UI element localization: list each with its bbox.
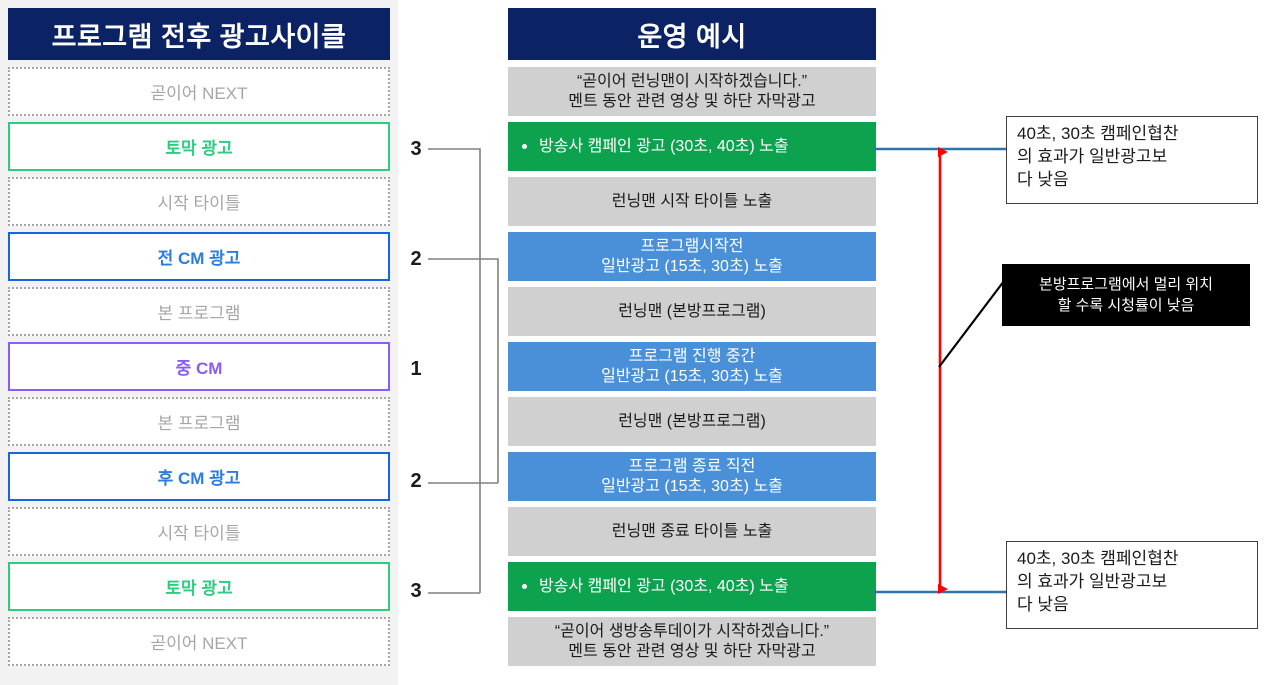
left-row-2: 시작 타이틀 — [8, 177, 390, 226]
left-row-0: 곧이어 NEXT — [8, 67, 390, 116]
callout-middle-text: 본방프로그램에서 멀리 위치 할 수록 시청률이 낮음 — [1039, 274, 1213, 316]
right-row-8: 런닝맨 종료 타이틀 노출 — [508, 507, 876, 556]
right-row-0: “곧이어 런닝맨이 시작하겠습니다.” 멘트 동안 관련 영상 및 하단 자막광… — [508, 67, 876, 116]
left-row-label: 본 프로그램 — [158, 409, 241, 434]
right-panel-header: 운영 예시 — [508, 8, 876, 60]
right-row-2: 런닝맨 시작 타이틀 노출 — [508, 177, 876, 226]
left-row-10: 곧이어 NEXT — [8, 617, 390, 666]
right-row-text: 방송사 캠페인 광고 (30초, 40초) 노출 — [539, 577, 789, 597]
priority-number-2-top: 2 — [404, 248, 428, 271]
right-row-5: 프로그램 진행 중간 일반광고 (15초, 30초) 노출 — [508, 342, 876, 391]
left-row-list: 곧이어 NEXT 토막 광고 시작 타이틀 전 CM 광고 본 프로그램 중 C… — [8, 67, 390, 672]
left-row-label: 시작 타이틀 — [158, 189, 241, 214]
bullet-icon — [522, 144, 527, 149]
right-row-list: “곧이어 런닝맨이 시작하겠습니다.” 멘트 동안 관련 영상 및 하단 자막광… — [508, 67, 876, 672]
priority-number-3-top: 3 — [404, 138, 428, 161]
right-row-9: 방송사 캠페인 광고 (30초, 40초) 노출 — [508, 562, 876, 611]
callout-bottom-text: 40초, 30초 캠페인협찬 의 효과가 일반광고보 다 낮음 — [1017, 549, 1178, 614]
left-row-6: 본 프로그램 — [8, 397, 390, 446]
right-row-7: 프로그램 종료 직전 일반광고 (15초, 30초) 노출 — [508, 452, 876, 501]
left-row-label: 전 CM 광고 — [158, 244, 241, 269]
right-row-text: 프로그램시작전 일반광고 (15초, 30초) 노출 — [601, 237, 783, 277]
left-row-3: 전 CM 광고 — [8, 232, 390, 281]
bullet-icon — [522, 584, 527, 589]
right-row-4: 런닝맨 (본방프로그램) — [508, 287, 876, 336]
black-callout-pointer — [939, 281, 1004, 367]
left-row-4: 본 프로그램 — [8, 287, 390, 336]
callout-top: 40초, 30초 캠페인협찬 의 효과가 일반광고보 다 낮음 — [1006, 116, 1258, 204]
left-row-7: 후 CM 광고 — [8, 452, 390, 501]
right-row-3: 프로그램시작전 일반광고 (15초, 30초) 노출 — [508, 232, 876, 281]
right-row-text: “곧이어 런닝맨이 시작하겠습니다.” 멘트 동안 관련 영상 및 하단 자막광… — [568, 72, 815, 112]
left-row-9: 토막 광고 — [8, 562, 390, 611]
right-row-1: 방송사 캠페인 광고 (30초, 40초) 노출 — [508, 122, 876, 171]
left-row-5: 중 CM — [8, 342, 390, 391]
callout-bottom: 40초, 30초 캠페인협찬 의 효과가 일반광고보 다 낮음 — [1006, 541, 1258, 629]
priority-number-1: 1 — [404, 358, 428, 381]
left-row-label: 토막 광고 — [165, 574, 232, 599]
left-row-label: 곧이어 NEXT — [151, 79, 248, 104]
right-row-text: 런닝맨 (본방프로그램) — [618, 412, 766, 432]
priority-number-2-bottom: 2 — [404, 470, 428, 493]
right-row-text: “곧이어 생방송투데이가 시작하겠습니다.” 멘트 동안 관련 영상 및 하단 … — [555, 622, 829, 662]
right-row-text: 프로그램 진행 중간 일반광고 (15초, 30초) 노출 — [601, 347, 783, 387]
slide-canvas: 프로그램 전후 광고사이클 곧이어 NEXT 토막 광고 시작 타이틀 전 CM… — [0, 0, 1266, 685]
right-panel: 운영 예시 “곧이어 런닝맨이 시작하겠습니다.” 멘트 동안 관련 영상 및 … — [508, 0, 876, 685]
priority-number-strip: 3 2 1 2 3 — [398, 0, 508, 685]
right-row-text: 런닝맨 종료 타이틀 노출 — [612, 522, 773, 542]
right-row-text: 런닝맨 (본방프로그램) — [618, 302, 766, 322]
left-row-label: 시작 타이틀 — [158, 519, 241, 544]
left-panel: 프로그램 전후 광고사이클 곧이어 NEXT 토막 광고 시작 타이틀 전 CM… — [0, 0, 398, 685]
left-row-label: 후 CM 광고 — [158, 464, 241, 489]
left-row-1: 토막 광고 — [8, 122, 390, 171]
priority-number-3-bottom: 3 — [404, 580, 428, 603]
left-row-label: 본 프로그램 — [158, 299, 241, 324]
right-row-text: 프로그램 종료 직전 일반광고 (15초, 30초) 노출 — [601, 457, 783, 497]
right-row-text: 방송사 캠페인 광고 (30초, 40초) 노출 — [539, 137, 789, 157]
right-row-text: 런닝맨 시작 타이틀 노출 — [612, 192, 773, 212]
left-row-8: 시작 타이틀 — [8, 507, 390, 556]
left-panel-header: 프로그램 전후 광고사이클 — [8, 8, 390, 60]
left-row-label: 곧이어 NEXT — [151, 629, 248, 654]
left-row-label: 토막 광고 — [165, 134, 232, 159]
right-row-6: 런닝맨 (본방프로그램) — [508, 397, 876, 446]
right-row-10: “곧이어 생방송투데이가 시작하겠습니다.” 멘트 동안 관련 영상 및 하단 … — [508, 617, 876, 666]
left-row-label: 중 CM — [176, 354, 223, 379]
callout-middle: 본방프로그램에서 멀리 위치 할 수록 시청률이 낮음 — [1002, 264, 1250, 326]
callout-top-text: 40초, 30초 캠페인협찬 의 효과가 일반광고보 다 낮음 — [1017, 124, 1178, 189]
